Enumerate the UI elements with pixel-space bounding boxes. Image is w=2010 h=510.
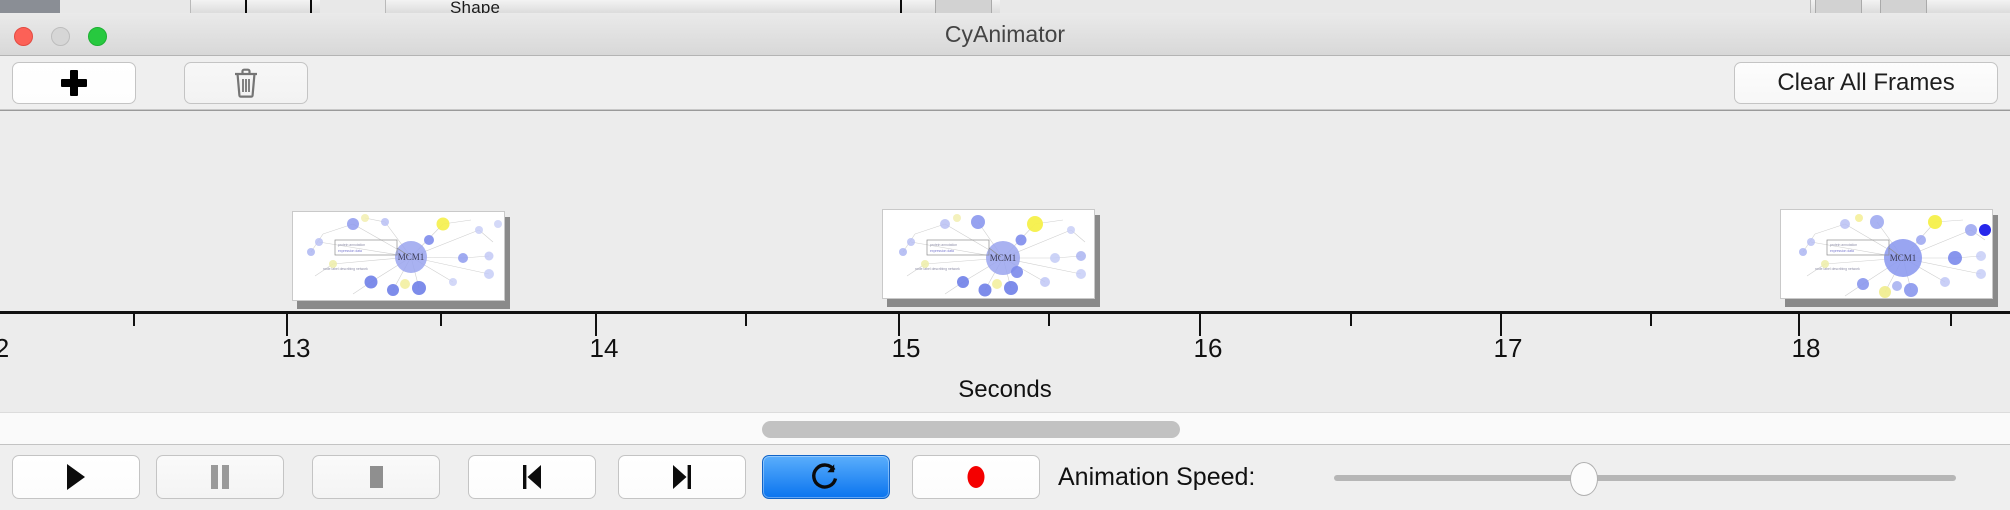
minimize-button[interactable] (51, 27, 70, 46)
axis-tick-label: 15 (892, 333, 921, 364)
pause-icon (207, 462, 233, 492)
network-graph: protein annotation expression data node … (293, 212, 505, 301)
axis-tick-minor (133, 314, 135, 326)
axis-tick-minor (1048, 314, 1050, 326)
background-segment (60, 0, 136, 13)
timeline-axis (0, 311, 2010, 314)
skip-next-button[interactable] (618, 455, 746, 499)
axis-tick-minor (440, 314, 442, 326)
background-segment (135, 0, 191, 13)
trash-icon (232, 67, 260, 99)
skip-previous-icon (518, 462, 546, 492)
toolbar: Clear All Frames (0, 56, 2010, 110)
stop-button[interactable] (312, 455, 440, 499)
skip-next-icon (668, 462, 696, 492)
hub-node-label: MCM1 (990, 253, 1017, 263)
loop-button[interactable] (762, 455, 890, 499)
svg-text:protein annotation: protein annotation (338, 243, 365, 247)
keyframe-thumbnail[interactable]: protein annotation expression data node … (1780, 209, 1998, 304)
svg-text:node label describing network: node label describing network (915, 267, 960, 271)
traffic-light-group (14, 27, 107, 46)
skip-previous-button[interactable] (468, 455, 596, 499)
stop-icon (363, 462, 389, 492)
scrollbar-thumb[interactable] (762, 421, 1180, 438)
axis-tick-label: 18 (1792, 333, 1821, 364)
record-icon (963, 462, 989, 492)
axis-tick-minor (1350, 314, 1352, 326)
axis-tick-label: 14 (590, 333, 619, 364)
background-window-strip: Shape (0, 0, 2010, 13)
play-icon (63, 462, 89, 492)
background-tab (935, 0, 992, 13)
slider-knob[interactable] (1570, 462, 1598, 496)
animation-speed-slider[interactable] (1334, 475, 1956, 481)
background-tab (1815, 0, 1862, 13)
axis-tick-label: 2 (0, 333, 9, 364)
clear-all-frames-label: Clear All Frames (1777, 69, 1954, 97)
keyframe-thumbnail[interactable]: protein annotation expression data node … (882, 209, 1100, 304)
background-window-titlebar (0, 0, 60, 13)
svg-text:expression data: expression data (930, 249, 954, 253)
svg-text:protein annotation: protein annotation (930, 243, 957, 247)
timeline-panel[interactable]: 2 13 14 15 16 17 18 Seconds (0, 110, 2010, 412)
record-button[interactable] (912, 455, 1040, 499)
network-graph: protein annotation expression data node … (1781, 210, 1993, 299)
pause-button[interactable] (156, 455, 284, 499)
background-tab (1880, 0, 1927, 13)
thumbnail-canvas: protein annotation expression data node … (1780, 209, 1993, 299)
background-divider (900, 0, 902, 13)
background-segment (320, 0, 386, 13)
zoom-button[interactable] (88, 27, 107, 46)
background-divider (245, 0, 247, 13)
axis-tick-minor (1650, 314, 1652, 326)
background-divider (310, 0, 312, 13)
loop-icon (811, 461, 841, 493)
add-frame-button[interactable] (12, 62, 136, 104)
hub-node-label: MCM1 (1890, 253, 1917, 263)
clear-all-frames-button[interactable]: Clear All Frames (1734, 62, 1998, 104)
svg-text:protein annotation: protein annotation (1830, 243, 1857, 247)
play-button[interactable] (12, 455, 140, 499)
thumbnail-canvas: protein annotation expression data node … (882, 209, 1095, 299)
window-title: CyAnimator (0, 13, 2010, 56)
network-graph: protein annotation expression data node … (883, 210, 1095, 299)
title-bar: CyAnimator (0, 13, 2010, 56)
close-button[interactable] (14, 27, 33, 46)
svg-text:node label describing network: node label describing network (1815, 267, 1860, 271)
plus-icon (61, 70, 87, 96)
playback-control-bar: Animation Speed: (0, 444, 2010, 510)
axis-title: Seconds (0, 376, 2010, 404)
axis-tick-label: 17 (1494, 333, 1523, 364)
keyframe-thumbnail[interactable]: protein annotation expression data node … (292, 211, 510, 306)
cyanimator-window: Shape CyAnimator Clear All Frame (0, 0, 2010, 510)
background-segment (1000, 0, 1811, 13)
svg-text:expression data: expression data (338, 249, 362, 253)
thumbnail-canvas: protein annotation expression data node … (292, 211, 505, 301)
animation-speed-label: Animation Speed: (1058, 455, 1255, 499)
svg-text:node label describing network: node label describing network (323, 267, 368, 271)
delete-frame-button[interactable] (184, 62, 308, 104)
svg-text:expression data: expression data (1830, 249, 1854, 253)
axis-tick-minor (745, 314, 747, 326)
timeline-scrollbar[interactable] (0, 412, 2010, 444)
axis-tick-minor (1950, 314, 1952, 326)
axis-tick-label: 16 (1194, 333, 1223, 364)
hub-node-label: MCM1 (398, 252, 425, 262)
background-window-label: Shape (450, 0, 500, 13)
axis-tick-label: 13 (282, 333, 311, 364)
